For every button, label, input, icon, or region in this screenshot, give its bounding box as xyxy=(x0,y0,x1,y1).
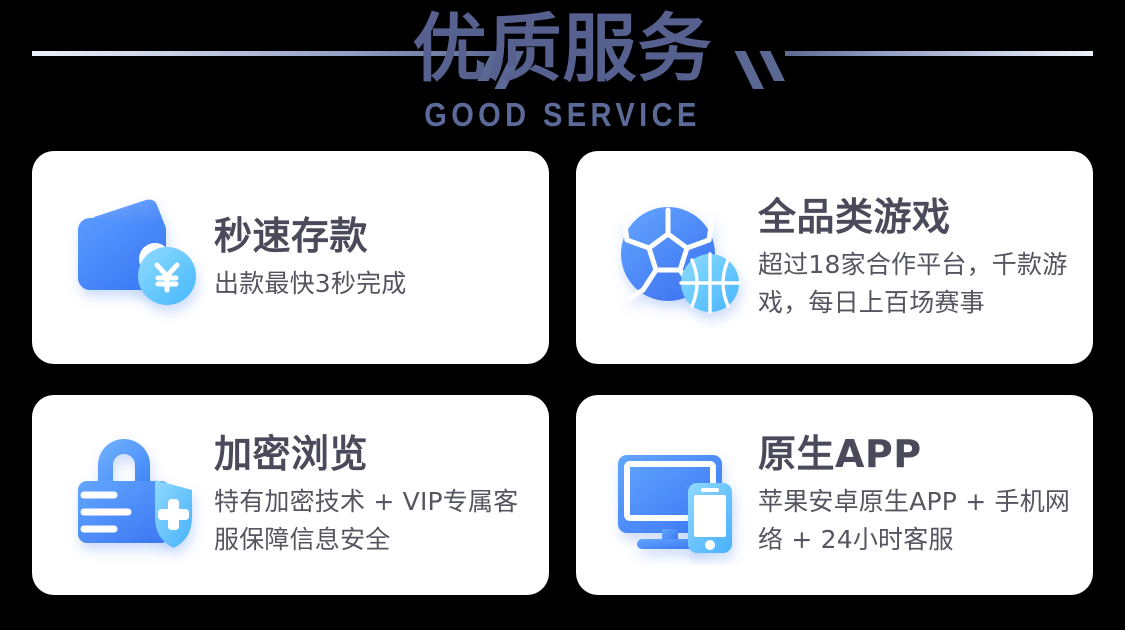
card-title: 原生APP xyxy=(758,431,1083,477)
feature-card-deposit[interactable]: 秒速存款 出款最快3秒完成 xyxy=(32,151,549,364)
feature-card-native-app[interactable]: 原生APP 苹果安卓原生APP + 手机网络 + 24小时客服 xyxy=(576,395,1093,595)
card-text-deposit: 秒速存款 出款最快3秒完成 xyxy=(214,213,417,303)
page-title: 优质服务 xyxy=(0,8,1125,90)
feature-card-encryption[interactable]: 加密浏览 特有加密技术 + VIP专属客服保障信息安全 xyxy=(32,395,549,595)
card-text-games: 全品类游戏 超过18家合作平台，千款游戏，每日上百场赛事 xyxy=(758,194,1093,322)
promo-banner: 优质服务 GOOD SERVICE xyxy=(0,0,1125,630)
card-text-encryption: 加密浏览 特有加密技术 + VIP专属客服保障信息安全 xyxy=(214,431,549,559)
feature-card-games[interactable]: 全品类游戏 超过18家合作平台，千款游戏，每日上百场赛事 xyxy=(576,151,1093,364)
monitor-phone-icon xyxy=(600,425,750,565)
card-title: 加密浏览 xyxy=(214,431,539,477)
banner-header: 优质服务 GOOD SERVICE xyxy=(0,0,1125,150)
wallet-yen-icon xyxy=(56,188,206,328)
feature-card-grid: 秒速存款 出款最快3秒完成 xyxy=(32,151,1093,595)
lock-shield-icon xyxy=(56,425,206,565)
page-subtitle: GOOD SERVICE xyxy=(68,96,1058,134)
card-subtitle: 特有加密技术 + VIP专属客服保障信息安全 xyxy=(214,483,539,559)
card-title: 秒速存款 xyxy=(214,213,407,259)
card-title: 全品类游戏 xyxy=(758,194,1083,240)
card-subtitle: 出款最快3秒完成 xyxy=(214,265,407,303)
card-subtitle: 超过18家合作平台，千款游戏，每日上百场赛事 xyxy=(758,246,1083,322)
soccer-basketball-icon xyxy=(600,188,750,328)
card-subtitle: 苹果安卓原生APP + 手机网络 + 24小时客服 xyxy=(758,483,1083,559)
card-text-native-app: 原生APP 苹果安卓原生APP + 手机网络 + 24小时客服 xyxy=(758,431,1093,559)
